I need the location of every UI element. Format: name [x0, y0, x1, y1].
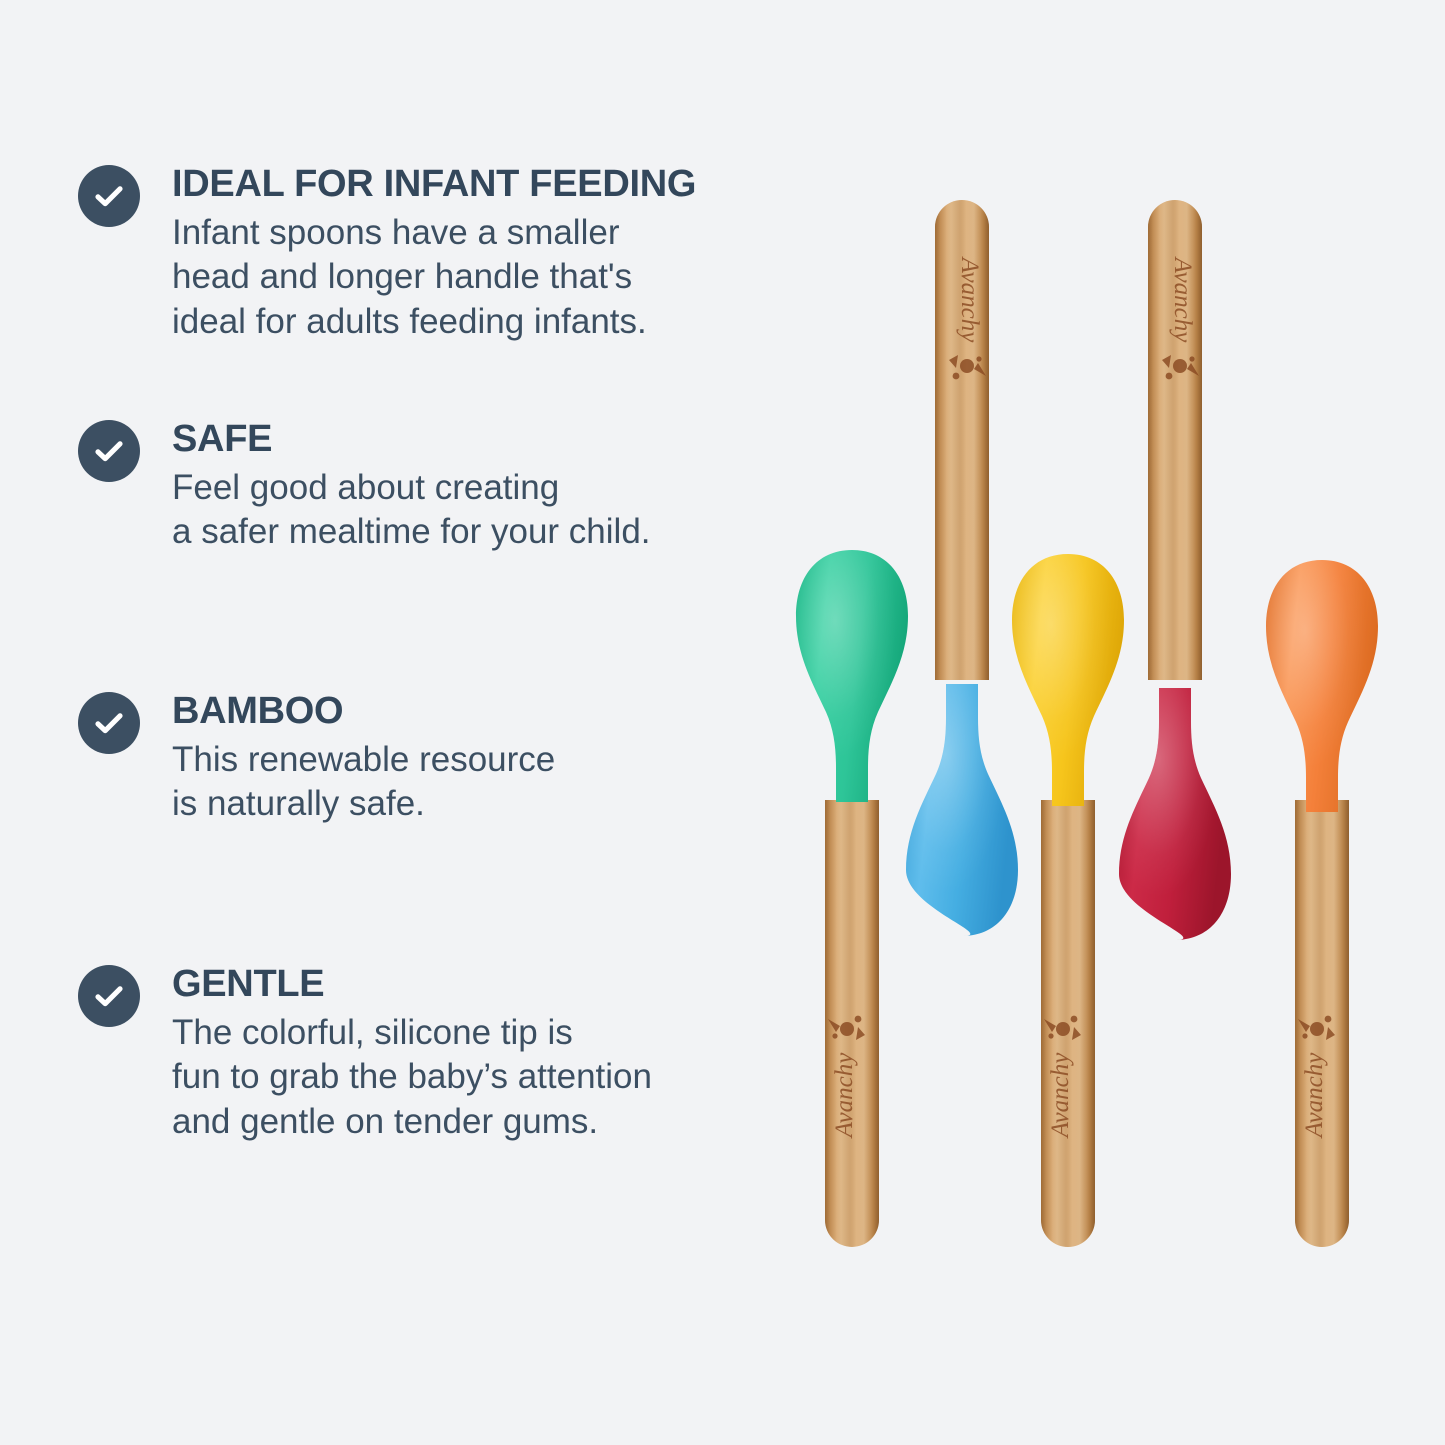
handle-grain	[1041, 800, 1095, 1247]
feature-body-line: Feel good about creating	[172, 466, 798, 510]
brand-engraving: Avanchy	[1298, 1016, 1335, 1140]
feature-body: Infant spoons have a smaller head and lo…	[172, 211, 798, 344]
check-circle-icon	[78, 165, 140, 227]
spoon-orange-handle	[1295, 800, 1349, 1247]
spoon-orange-silicone-tip	[1266, 560, 1378, 812]
feature-text-block: BAMBOO This renewable resource is natura…	[172, 692, 798, 827]
svg-text:Avanchy: Avanchy	[1301, 1052, 1328, 1140]
spoon-red-silicone-tip	[1119, 688, 1231, 940]
check-circle-icon	[78, 420, 140, 482]
handle-grain	[1148, 200, 1202, 680]
spoon-red-handle	[1148, 200, 1202, 680]
feature-body-line: ideal for adults feeding infants.	[172, 300, 798, 344]
brand-engraving: Avanchy	[1044, 1016, 1081, 1140]
spoon-blue: Avanchy	[906, 200, 1018, 936]
svg-text:Avanchy: Avanchy	[1047, 1052, 1074, 1140]
feature-body-line: The colorful, silicone tip is	[172, 1011, 798, 1055]
check-circle-icon	[78, 965, 140, 1027]
brand-engraving: Avanchy	[949, 256, 986, 380]
feature-body: Feel good about creating a safer mealtim…	[172, 466, 798, 555]
spoon-green: Avanchy	[796, 550, 908, 1247]
feature-title: BAMBOO	[172, 692, 798, 732]
feature-body-line: fun to grab the baby’s attention	[172, 1055, 798, 1099]
spoon-yellow: Avanchy	[1012, 554, 1124, 1247]
feature-title: IDEAL FOR INFANT FEEDING	[172, 165, 798, 205]
feature-body-line: head and longer handle that's	[172, 255, 798, 299]
feature-body-line: and gentle on tender gums.	[172, 1100, 798, 1144]
feature-text-block: GENTLE The colorful, silicone tip is fun…	[172, 965, 798, 1144]
spoon-green-silicone-tip	[796, 550, 908, 802]
spoon-set-illustration: Avanchy	[760, 160, 1440, 1280]
spoon-orange: Avanchy	[1266, 560, 1378, 1247]
handle-grain	[825, 800, 879, 1247]
feature-item-bamboo: BAMBOO This renewable resource is natura…	[78, 692, 798, 965]
feature-text-block: IDEAL FOR INFANT FEEDING Infant spoons h…	[172, 165, 798, 344]
feature-title: GENTLE	[172, 965, 798, 1005]
spoon-blue-handle	[935, 200, 989, 680]
check-circle-icon	[78, 692, 140, 754]
handle-grain	[1295, 800, 1349, 1247]
infographic-canvas: IDEAL FOR INFANT FEEDING Infant spoons h…	[0, 0, 1445, 1445]
feature-body-line: a safer mealtime for your child.	[172, 510, 798, 554]
feature-item-gentle: GENTLE The colorful, silicone tip is fun…	[78, 965, 798, 1215]
brand-engraving: Avanchy	[828, 1016, 865, 1140]
svg-text:Avanchy: Avanchy	[831, 1052, 858, 1140]
feature-body-line: is naturally safe.	[172, 782, 798, 826]
feature-body-line: Infant spoons have a smaller	[172, 211, 798, 255]
spoon-red: Avanchy	[1119, 200, 1231, 940]
feature-title: SAFE	[172, 420, 798, 460]
handle-grain	[935, 200, 989, 680]
feature-item-ideal-for-infant-feeding: IDEAL FOR INFANT FEEDING Infant spoons h…	[78, 165, 798, 420]
brand-engraving: Avanchy	[1162, 256, 1199, 380]
feature-text-block: SAFE Feel good about creating a safer me…	[172, 420, 798, 555]
spoon-yellow-handle	[1041, 800, 1095, 1247]
spoon-yellow-silicone-tip	[1012, 554, 1124, 806]
feature-item-safe: SAFE Feel good about creating a safer me…	[78, 420, 798, 692]
feature-body: The colorful, silicone tip is fun to gra…	[172, 1011, 798, 1144]
svg-text:Avanchy: Avanchy	[956, 256, 983, 344]
feature-body: This renewable resource is naturally saf…	[172, 738, 798, 827]
spoon-green-handle	[825, 800, 879, 1247]
feature-body-line: This renewable resource	[172, 738, 798, 782]
spoon-blue-silicone-tip	[906, 684, 1018, 936]
feature-list: IDEAL FOR INFANT FEEDING Infant spoons h…	[78, 165, 798, 1215]
svg-text:Avanchy: Avanchy	[1169, 256, 1196, 344]
